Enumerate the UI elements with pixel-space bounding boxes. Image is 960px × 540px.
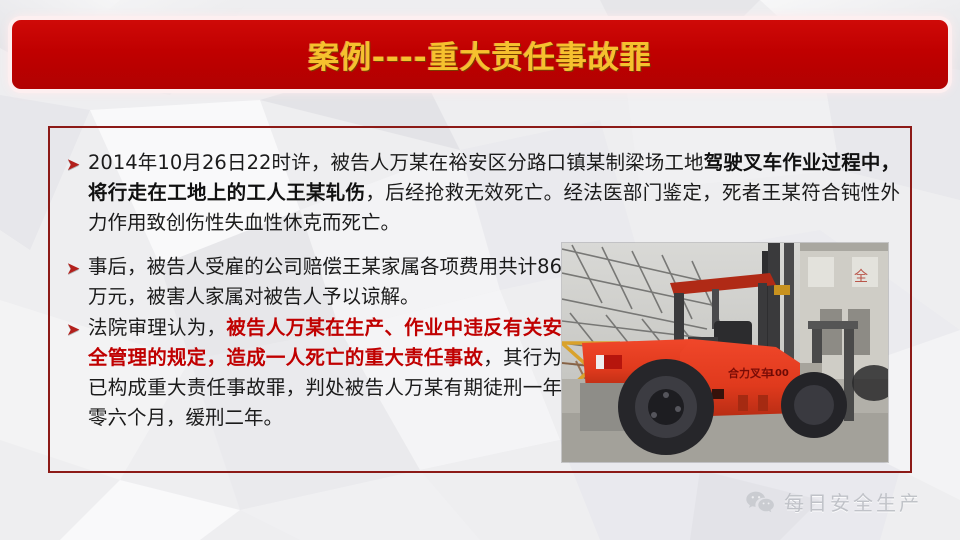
- watermark-label: 每日安全生产: [784, 487, 922, 516]
- arrow-bullet-icon: ➤: [66, 254, 88, 284]
- arrow-bullet-icon: ➤: [66, 315, 88, 345]
- forklift-photo: 全: [562, 243, 888, 462]
- page-title: 案例----重大责任事故罪: [308, 32, 651, 77]
- svg-text:100: 100: [768, 368, 789, 379]
- watermark: 每日安全生产: [745, 487, 922, 516]
- bullet-1-segment-1: 2014年10月26日22时许，被告人万某在裕安区分路口镇某制梁场工地: [88, 151, 704, 174]
- bullet-2-segment-1: 事后，被告人受雇的公司赔偿王某家属各项费用共计86万元，被害人家属对被告人予以谅…: [88, 255, 562, 308]
- bullet-item-1: ➤ 2014年10月26日22时许，被告人万某在裕安区分路口镇某制梁场工地驾驶叉…: [66, 148, 904, 238]
- slide-canvas: 案例----重大责任事故罪 ➤ 2014年10月26日22时许，被告人万某在裕安…: [0, 0, 960, 540]
- svg-text:全: 全: [854, 268, 868, 285]
- bullet-item-2: ➤ 事后，被告人受雇的公司赔偿王某家属各项费用共计86万元，被害人家属对被告人予…: [66, 252, 566, 312]
- bullet-text-1: 2014年10月26日22时许，被告人万某在裕安区分路口镇某制梁场工地驾驶叉车作…: [88, 148, 900, 238]
- bullet-item-3: ➤ 法院审理认为，被告人万某在生产、作业中违反有关安全管理的规定，造成一人死亡的…: [66, 313, 566, 433]
- svg-text:合力叉车: 合力叉车: [728, 366, 772, 380]
- bullet-text-2: 事后，被告人受雇的公司赔偿王某家属各项费用共计86万元，被害人家属对被告人予以谅…: [88, 252, 562, 312]
- bullet-text-3: 法院审理认为，被告人万某在生产、作业中违反有关安全管理的规定，造成一人死亡的重大…: [88, 313, 562, 433]
- wechat-icon: [745, 490, 775, 514]
- slide-title-banner: 案例----重大责任事故罪: [12, 20, 948, 89]
- bullet-3-segment-1: 法院审理认为，: [88, 316, 226, 339]
- arrow-bullet-icon: ➤: [66, 150, 88, 180]
